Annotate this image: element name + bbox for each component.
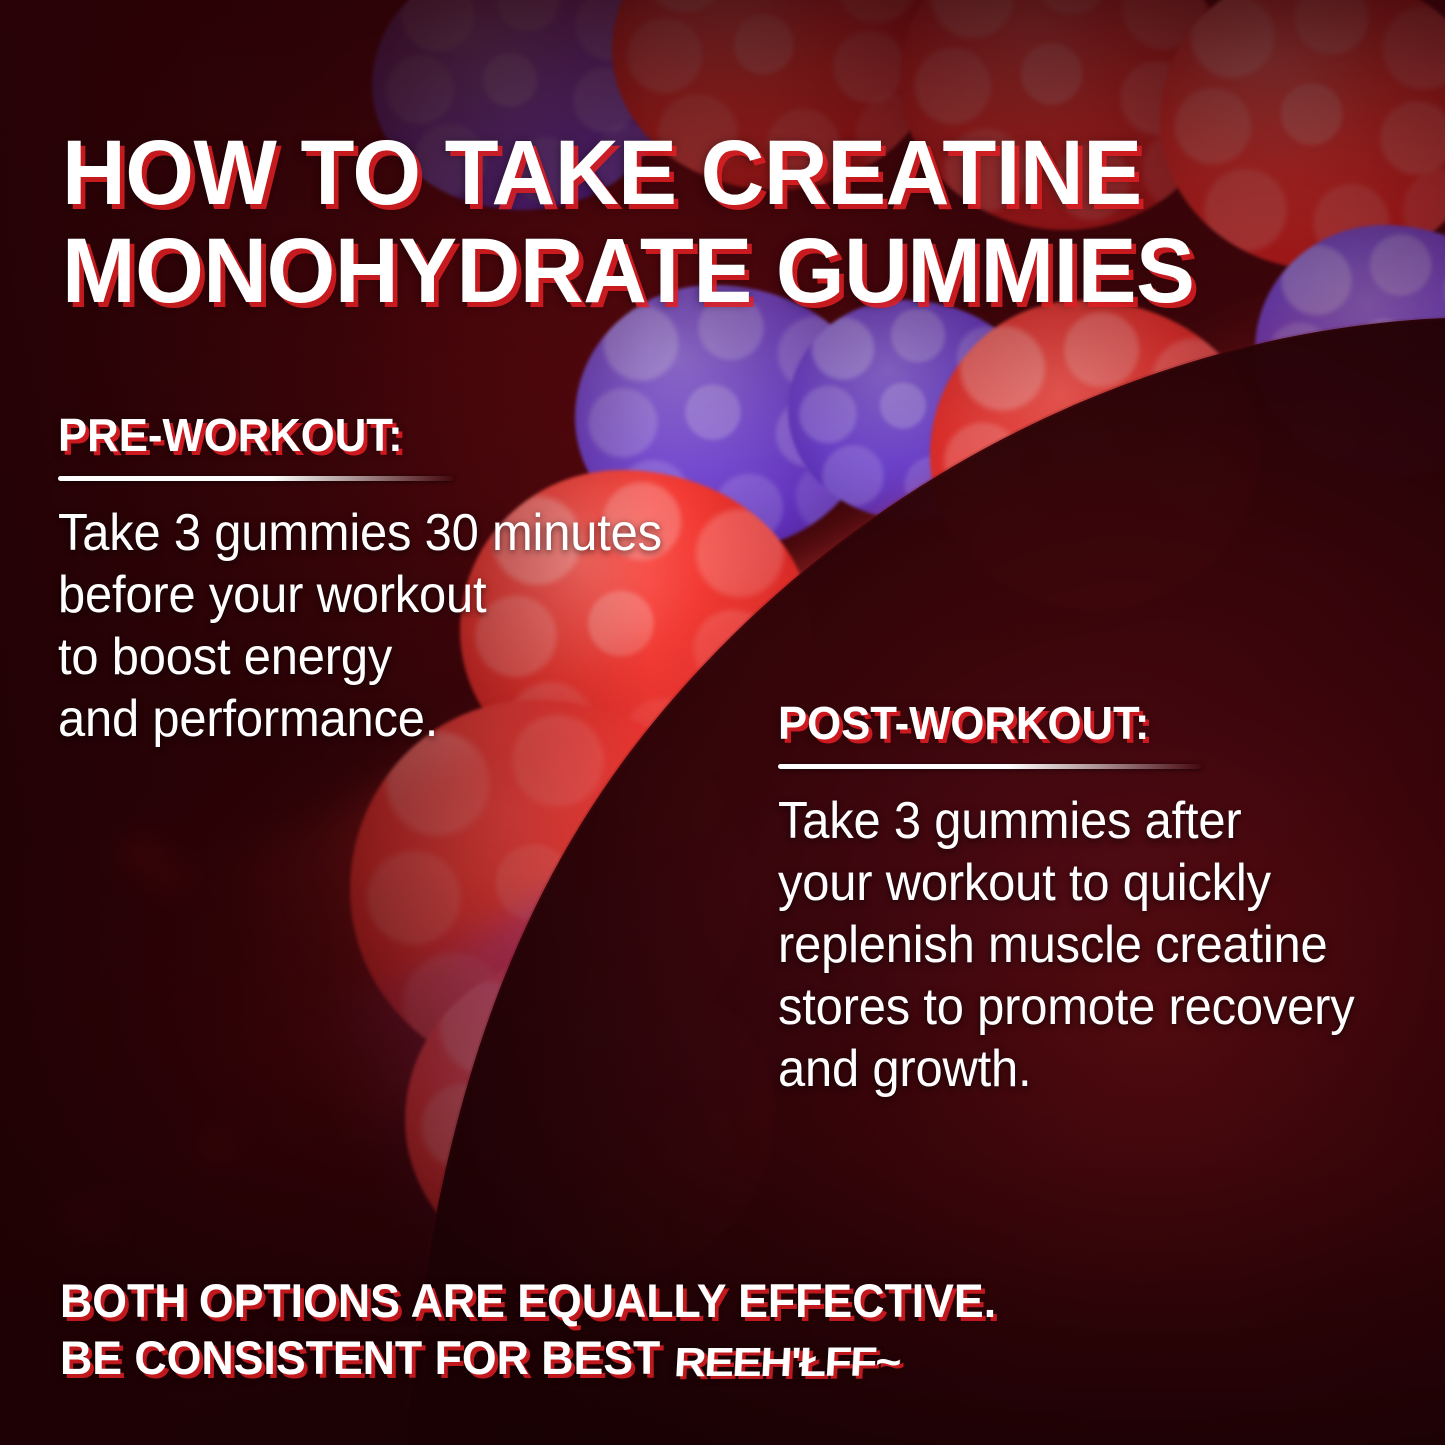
title-line-1: HOW TO TAKE CREATINE <box>62 124 1262 222</box>
pre-workout-divider <box>58 476 454 481</box>
footer-note: BOTH OPTIONS ARE EQUALLY EFFECTIVE. BE C… <box>60 1272 1324 1387</box>
pre-workout-body-line: to boost energy <box>58 627 716 689</box>
post-workout-body-line: replenish muscle creatine <box>778 915 1389 977</box>
footer-glitched-word: REEH'ŁFF~ <box>673 1337 901 1386</box>
footer-line-1: BOTH OPTIONS ARE EQUALLY EFFECTIVE. <box>60 1272 1324 1329</box>
post-workout-body-line: stores to promote recovery <box>778 977 1389 1039</box>
infographic-poster: HOW TO TAKE CREATINE MONOHYDRATE GUMMIES… <box>0 0 1445 1445</box>
post-workout-body-line: your workout to quickly <box>778 853 1389 915</box>
post-workout-body-line: Take 3 gummies after <box>778 791 1389 853</box>
post-workout-divider <box>778 764 1202 769</box>
footer-line-2-prefix: BE CONSISTENT FOR BEST <box>60 1331 673 1384</box>
pre-workout-body-line: before your workout <box>58 565 716 627</box>
post-workout-body-line: and growth. <box>778 1039 1389 1101</box>
pre-workout-card: PRE-WORKOUT: Take 3 gummies 30 minutes b… <box>58 412 758 751</box>
footer-line-2: BE CONSISTENT FOR BEST REEH'ŁFF~ <box>60 1329 1324 1386</box>
pre-workout-body: Take 3 gummies 30 minutes before your wo… <box>58 503 716 751</box>
post-workout-body: Take 3 gummies after your workout to qui… <box>778 791 1389 1100</box>
pre-workout-heading: PRE-WORKOUT: <box>58 412 723 458</box>
post-workout-card: POST-WORKOUT: Take 3 gummies after your … <box>778 700 1428 1100</box>
pre-workout-body-line: Take 3 gummies 30 minutes <box>58 503 716 565</box>
post-workout-heading: POST-WORKOUT: <box>778 700 1396 746</box>
title-line-2: MONOHYDRATE GUMMIES <box>62 222 1262 320</box>
pre-workout-body-line: and performance. <box>58 689 716 751</box>
page-title: HOW TO TAKE CREATINE MONOHYDRATE GUMMIES <box>62 124 1262 321</box>
